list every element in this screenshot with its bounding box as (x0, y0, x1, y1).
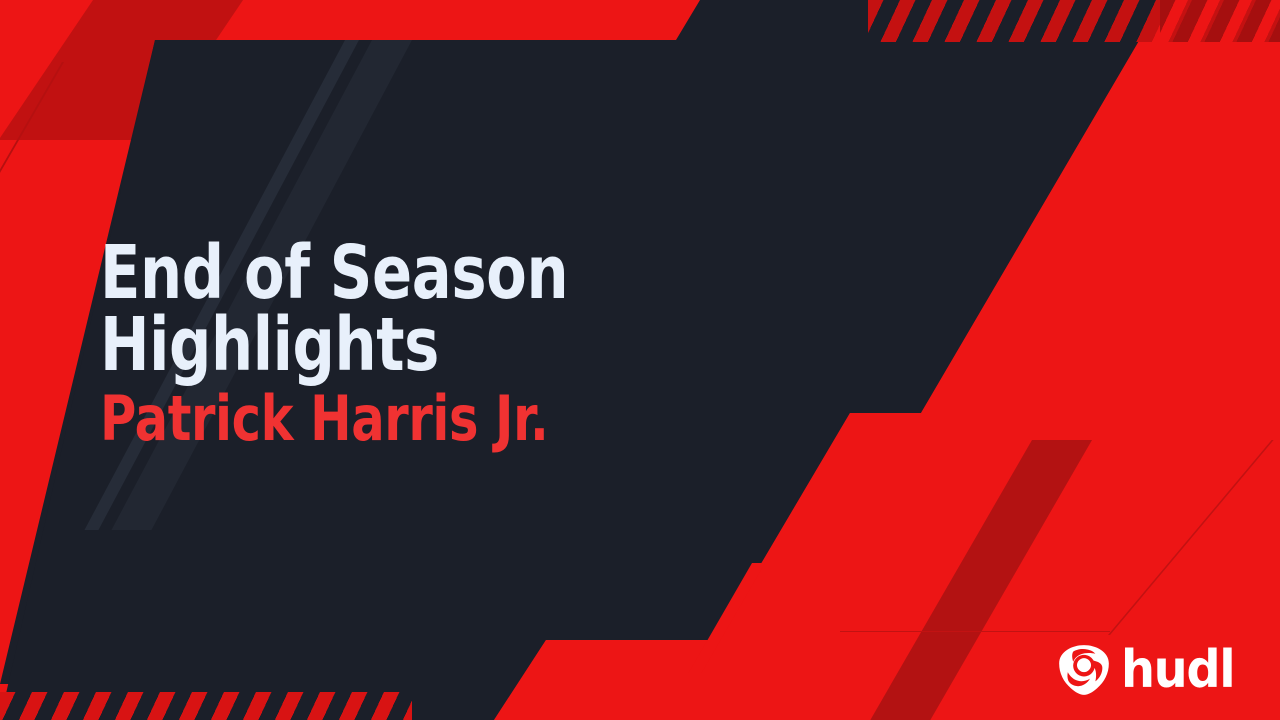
title-card-canvas: End of Season Highlights Patrick Harris … (0, 0, 1280, 720)
hairline-bottom-horizontal (840, 631, 1110, 632)
subtitle-player-name: Patrick Harris Jr. (100, 388, 660, 450)
stripes-top-right-overlay (1160, 0, 1280, 42)
stripes-bottom-left (0, 692, 412, 720)
hudl-logo-icon (1057, 644, 1111, 696)
title-line-1: End of Season (100, 238, 660, 310)
hudl-logo-lockup: hudl (1057, 644, 1244, 696)
title-line-2: Highlights (100, 310, 660, 382)
hudl-wordmark: hudl (1121, 644, 1234, 696)
title-block: End of Season Highlights Patrick Harris … (100, 238, 800, 450)
